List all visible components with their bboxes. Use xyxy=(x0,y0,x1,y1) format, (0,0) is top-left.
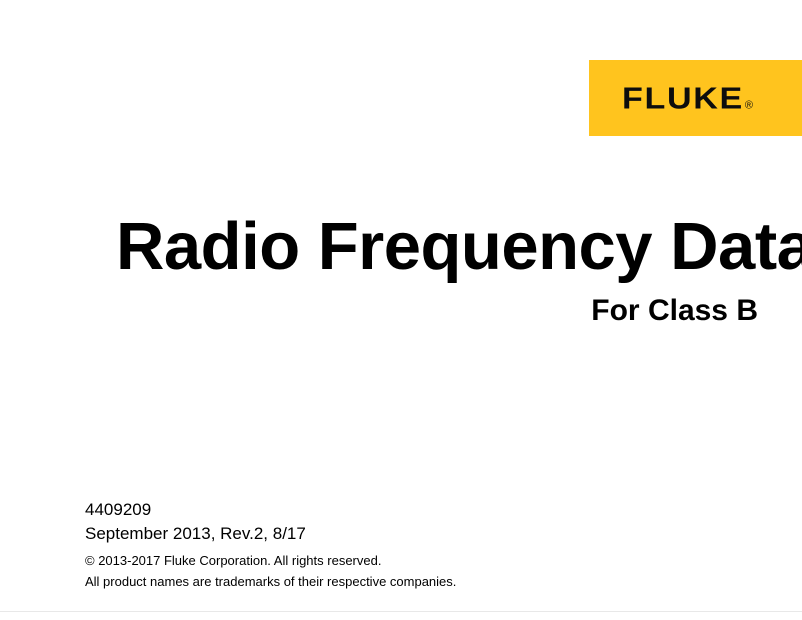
fluke-wordmark: FLUKE ® xyxy=(622,83,753,114)
fluke-logo: FLUKE ® xyxy=(589,60,802,136)
page-subtitle: For Class B xyxy=(116,294,758,327)
imprint-block: 4409209 September 2013, Rev.2, 8/17 © 20… xyxy=(85,498,725,592)
document-number: 4409209 xyxy=(85,498,725,522)
page-bottom-divider xyxy=(0,611,802,612)
document-cover-page: FLUKE ® Radio Frequency Data For Class B… xyxy=(0,0,802,620)
revision-date: September 2013, Rev.2, 8/17 xyxy=(85,522,725,546)
title-block: Radio Frequency Data For Class B xyxy=(116,212,758,327)
copyright-notice: © 2013-2017 Fluke Corporation. All right… xyxy=(85,550,725,571)
page-title: Radio Frequency Data xyxy=(116,212,758,282)
registered-trademark-icon: ® xyxy=(745,101,753,112)
trademark-notice: All product names are trademarks of thei… xyxy=(85,571,725,592)
fluke-logo-text: FLUKE xyxy=(622,83,744,114)
